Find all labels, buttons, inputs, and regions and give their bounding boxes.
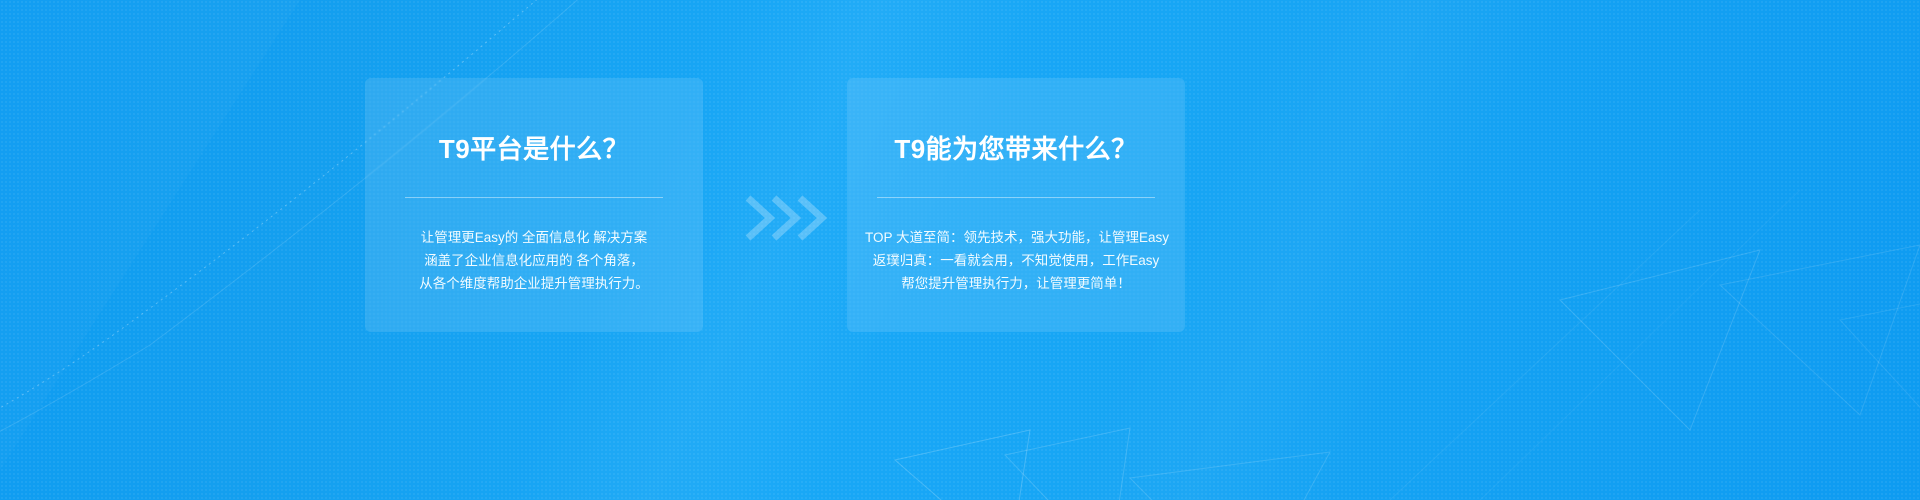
card-body-line: 让管理更Easy的 全面信息化 解决方案	[383, 226, 685, 249]
card-divider	[877, 197, 1155, 198]
card-divider	[405, 197, 663, 198]
card-group: T9平台是什么？ 让管理更Easy的 全面信息化 解决方案 涵盖了企业信息化应用…	[0, 0, 1920, 500]
card-body-line: 返璞归真：一看就会用，不知觉使用，工作Easy	[865, 249, 1167, 272]
card-body-line: 涵盖了企业信息化应用的 各个角落，	[383, 249, 685, 272]
card-body-line: 从各个维度帮助企业提升管理执行力。	[383, 272, 685, 295]
card-title: T9能为您带来什么？	[865, 134, 1167, 165]
hero-banner: T9平台是什么？ 让管理更Easy的 全面信息化 解决方案 涵盖了企业信息化应用…	[0, 0, 1920, 500]
card-what-t9-brings[interactable]: T9能为您带来什么？ TOP 大道至简：领先技术，强大功能，让管理Easy 返璞…	[847, 78, 1185, 332]
card-what-is-t9[interactable]: T9平台是什么？ 让管理更Easy的 全面信息化 解决方案 涵盖了企业信息化应用…	[365, 78, 703, 332]
card-title: T9平台是什么？	[383, 134, 685, 165]
card-body: TOP 大道至简：领先技术，强大功能，让管理Easy 返璞归真：一看就会用，不知…	[865, 226, 1167, 295]
card-body-line: TOP 大道至简：领先技术，强大功能，让管理Easy	[865, 226, 1167, 249]
card-body: 让管理更Easy的 全面信息化 解决方案 涵盖了企业信息化应用的 各个角落， 从…	[383, 226, 685, 295]
card-body-line: 帮您提升管理执行力，让管理更简单！	[865, 272, 1167, 295]
